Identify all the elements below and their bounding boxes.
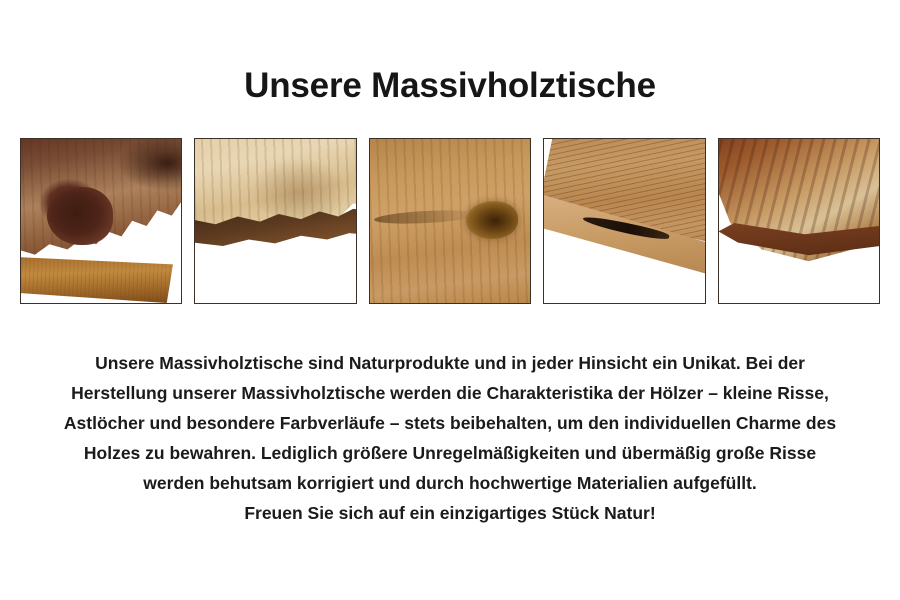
gallery-item-1 [20, 138, 182, 304]
description-line-3: Astlöcher und besondere Farbverläufe – s… [26, 408, 874, 438]
gallery-item-2 [194, 138, 356, 304]
image-gallery [20, 138, 880, 304]
closing-line: Freuen Sie sich auf ein einzigartiges St… [26, 498, 874, 528]
wood-knot-mark [466, 201, 518, 239]
wood-slab-live-edge-photo [195, 139, 355, 303]
gallery-item-3 [369, 138, 531, 304]
gallery-item-4 [543, 138, 705, 304]
gallery-item-5 [718, 138, 880, 304]
description-line-4: Holzes zu bewahren. Lediglich größere Un… [26, 438, 874, 468]
description-line-5: werden behutsam korrigiert und durch hoc… [26, 468, 874, 498]
info-page: Unsere Massivholztische [0, 0, 900, 600]
page-title: Unsere Massivholztische [0, 66, 900, 105]
wood-board-crack-photo [544, 139, 704, 303]
wood-knot-mark [47, 187, 113, 245]
description-line-1: Unsere Massivholztische sind Naturproduk… [26, 348, 874, 378]
description-line-2: Herstellung unserer Massivholztische wer… [26, 378, 874, 408]
wood-grain-swirl [251, 159, 347, 221]
wood-sheesham-corner-photo [719, 139, 879, 303]
wood-slab-knot-photo [21, 139, 181, 303]
description-block: Unsere Massivholztische sind Naturproduk… [26, 348, 874, 528]
wood-grain-knot-photo [370, 139, 530, 303]
page-header: Unsere Massivholztische [0, 66, 900, 105]
